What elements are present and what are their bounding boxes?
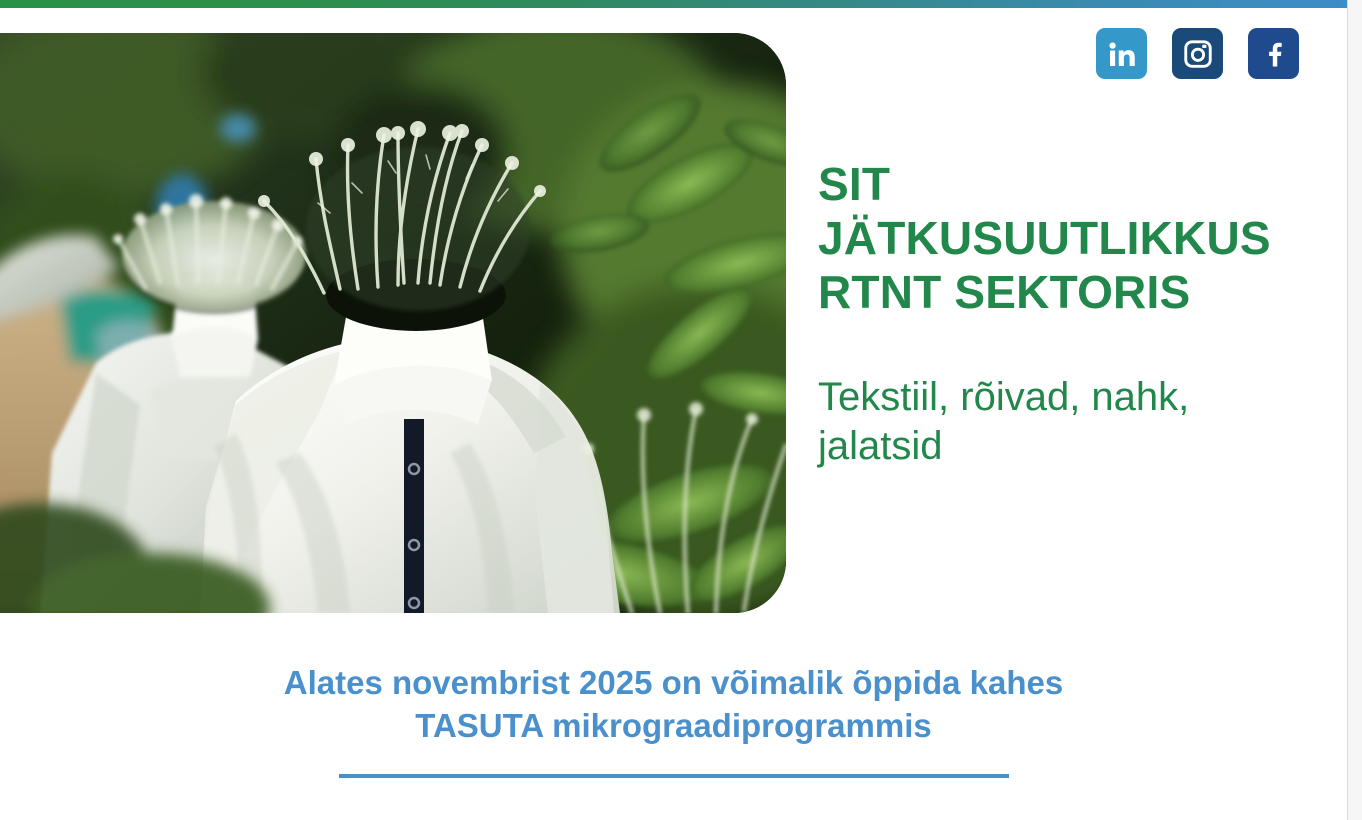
social-links: [1096, 28, 1299, 79]
facebook-icon: [1259, 39, 1289, 69]
announcement-divider: [339, 774, 1009, 778]
hero-image: [0, 33, 786, 613]
social-link-facebook[interactable]: [1248, 28, 1299, 79]
page-subtitle: Tekstiil, rõivad, nahk, jalatsid: [818, 373, 1338, 471]
top-gradient-bar: [0, 0, 1347, 8]
social-link-instagram[interactable]: [1172, 28, 1223, 79]
announcement-text: Alates novembrist 2025 on võimalik õppid…: [0, 662, 1347, 748]
hero-image-artwork: [0, 33, 786, 613]
announcement-block: Alates novembrist 2025 on võimalik õppid…: [0, 662, 1347, 778]
social-link-linkedin[interactable]: [1096, 28, 1147, 79]
headline-column: SIT JÄTKUSUUTLIKKUS RTNT SEKTORIS Teksti…: [818, 158, 1338, 471]
page-scrollbar[interactable]: [1347, 0, 1362, 820]
page-title: SIT JÄTKUSUUTLIKKUS RTNT SEKTORIS: [818, 158, 1338, 319]
page-root: SIT JÄTKUSUUTLIKKUS RTNT SEKTORIS Teksti…: [0, 0, 1362, 820]
linkedin-icon: [1107, 39, 1137, 69]
instagram-icon: [1183, 39, 1213, 69]
